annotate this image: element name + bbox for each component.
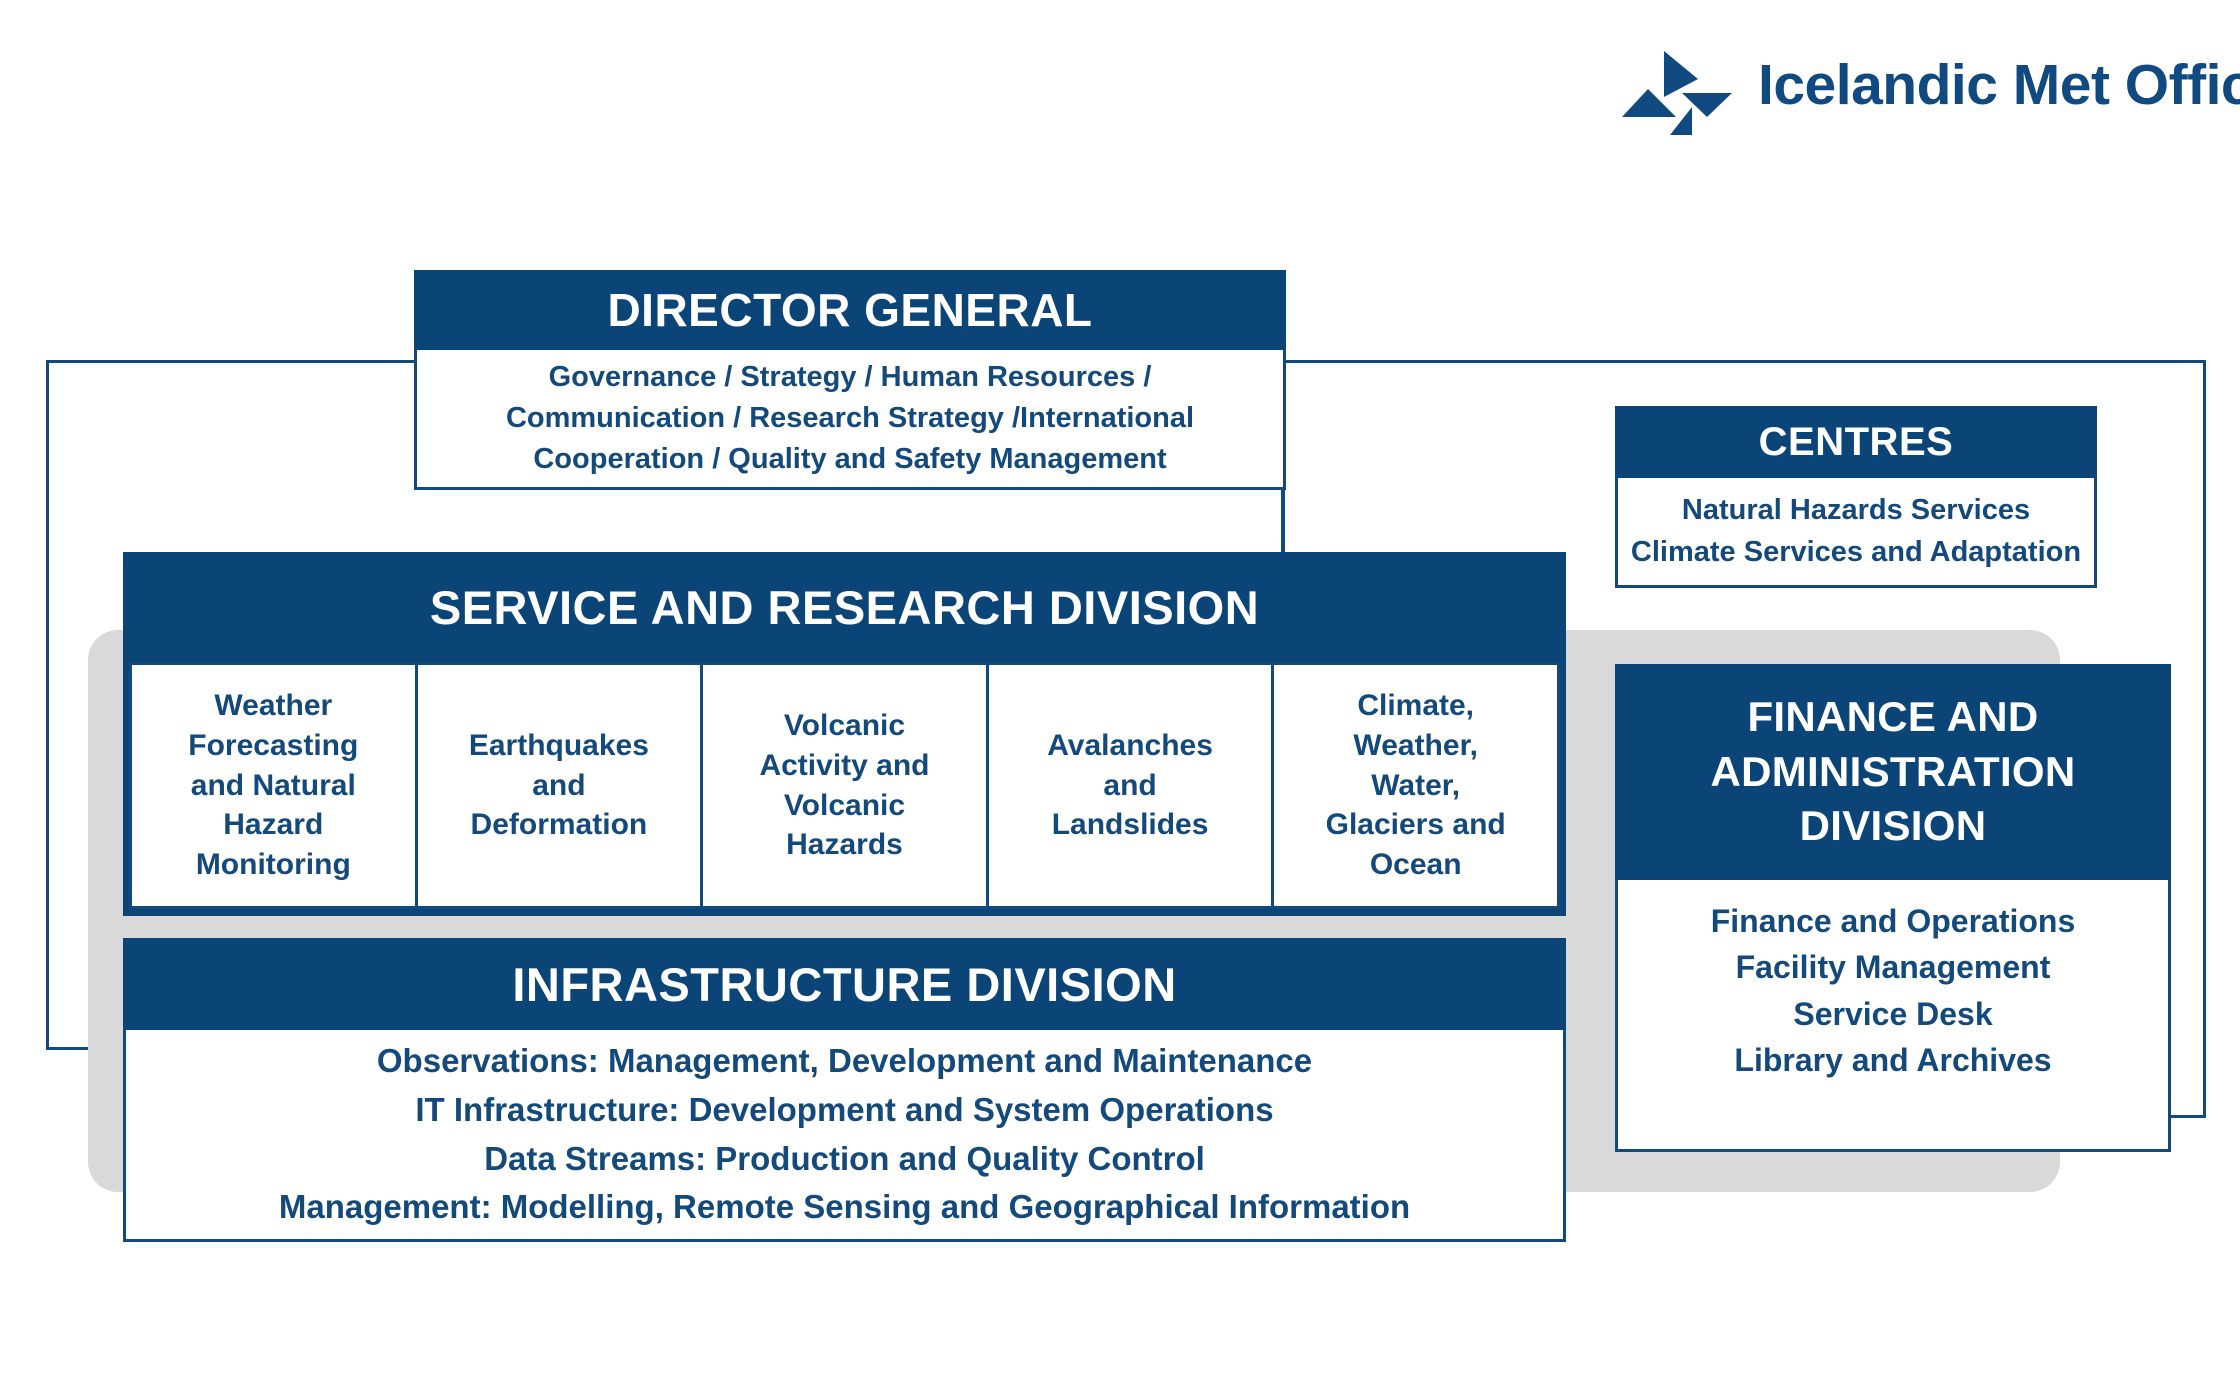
srd-column-line: and Natural [191,766,356,806]
srd-column-earthquakes-deformation[interactable]: Earthquakes and Deformation [415,662,704,909]
director-general-box[interactable]: DIRECTOR GENERAL Governance / Strategy /… [414,270,1286,490]
service-research-division-title: SERVICE AND RESEARCH DIVISION [123,552,1566,662]
srd-column-line: and [1103,766,1156,806]
srd-column-line: and [532,766,585,806]
srd-column-weather-forecasting[interactable]: Weather Forecasting and Natural Hazard M… [129,662,418,909]
srd-column-line: Monitoring [196,845,351,885]
finance-administration-item: Service Desk [1793,991,1992,1037]
srd-column-line: Hazard [223,805,323,845]
srd-column-line: Water, [1371,766,1460,806]
service-research-division-columns: Weather Forecasting and Natural Hazard M… [123,662,1566,916]
pinwheel-triangles-logo-icon [1620,35,1732,135]
infrastructure-division-item: Data Streams: Production and Quality Con… [484,1135,1205,1184]
centres-item: Climate Services and Adaptation [1631,532,2081,573]
srd-column-line: Weather [214,686,332,726]
director-general-responsibilities: Governance / Strategy / Human Resources … [414,350,1286,490]
srd-column-line: Forecasting [188,726,358,766]
finance-administration-title-line: ADMINISTRATION [1710,745,2075,800]
director-general-title: DIRECTOR GENERAL [414,270,1286,350]
infrastructure-division-title: INFRASTRUCTURE DIVISION [123,938,1566,1030]
centres-item: Natural Hazards Services [1682,490,2030,531]
srd-column-line: Avalanches [1047,726,1213,766]
srd-column-line: Earthquakes [469,726,649,766]
srd-column-climate-weather-water[interactable]: Climate, Weather, Water, Glaciers and Oc… [1271,662,1560,909]
srd-column-volcanic-activity[interactable]: Volcanic Activity and Volcanic Hazards [700,662,989,909]
finance-administration-title-line: FINANCE AND [1747,690,2038,745]
centres-box[interactable]: CENTRES Natural Hazards Services Climate… [1615,406,2097,588]
srd-column-line: Ocean [1370,845,1462,885]
infrastructure-division-item: Observations: Management, Development an… [377,1037,1312,1086]
finance-administration-division-title: FINANCE AND ADMINISTRATION DIVISION [1615,664,2171,880]
director-general-line: Governance / Strategy / Human Resources … [549,357,1152,398]
finance-administration-item: Library and Archives [1734,1037,2051,1083]
srd-column-line: Landslides [1052,805,1209,845]
srd-column-line: Activity and [759,746,929,786]
srd-column-line: Glaciers and [1326,805,1506,845]
director-general-line: Communication / Research Strategy /Inter… [506,398,1194,439]
infrastructure-division-item: IT Infrastructure: Development and Syste… [415,1086,1273,1135]
brand-name: Icelandic Met Office [1758,57,2240,114]
finance-administration-division-list: Finance and Operations Facility Manageme… [1615,880,2171,1152]
srd-column-line: Volcanic [784,706,905,746]
centres-title: CENTRES [1615,406,2097,478]
infrastructure-division-box[interactable]: INFRASTRUCTURE DIVISION Observations: Ma… [123,938,1566,1242]
brand-logo: Icelandic Met Office [1620,30,2220,140]
centres-list: Natural Hazards Services Climate Service… [1615,478,2097,588]
srd-column-avalanches-landslides[interactable]: Avalanches and Landslides [986,662,1275,909]
srd-column-line: Deformation [471,805,648,845]
infrastructure-division-item: Management: Modelling, Remote Sensing an… [279,1183,1410,1232]
service-research-division-box[interactable]: SERVICE AND RESEARCH DIVISION Weather Fo… [123,552,1566,916]
srd-column-line: Hazards [786,825,903,865]
finance-administration-item: Facility Management [1736,944,2051,990]
srd-column-line: Climate, [1357,686,1474,726]
infrastructure-division-list: Observations: Management, Development an… [123,1030,1566,1242]
org-chart-canvas: Icelandic Met Office DIRECTOR GENERAL Go… [0,0,2240,1384]
finance-administration-division-box[interactable]: FINANCE AND ADMINISTRATION DIVISION Fina… [1615,664,2171,1152]
finance-administration-title-line: DIVISION [1800,799,1987,854]
srd-column-line: Volcanic [784,786,905,826]
srd-column-line: Weather, [1353,726,1478,766]
director-general-line: Cooperation / Quality and Safety Managem… [533,439,1166,480]
finance-administration-item: Finance and Operations [1711,898,2076,944]
